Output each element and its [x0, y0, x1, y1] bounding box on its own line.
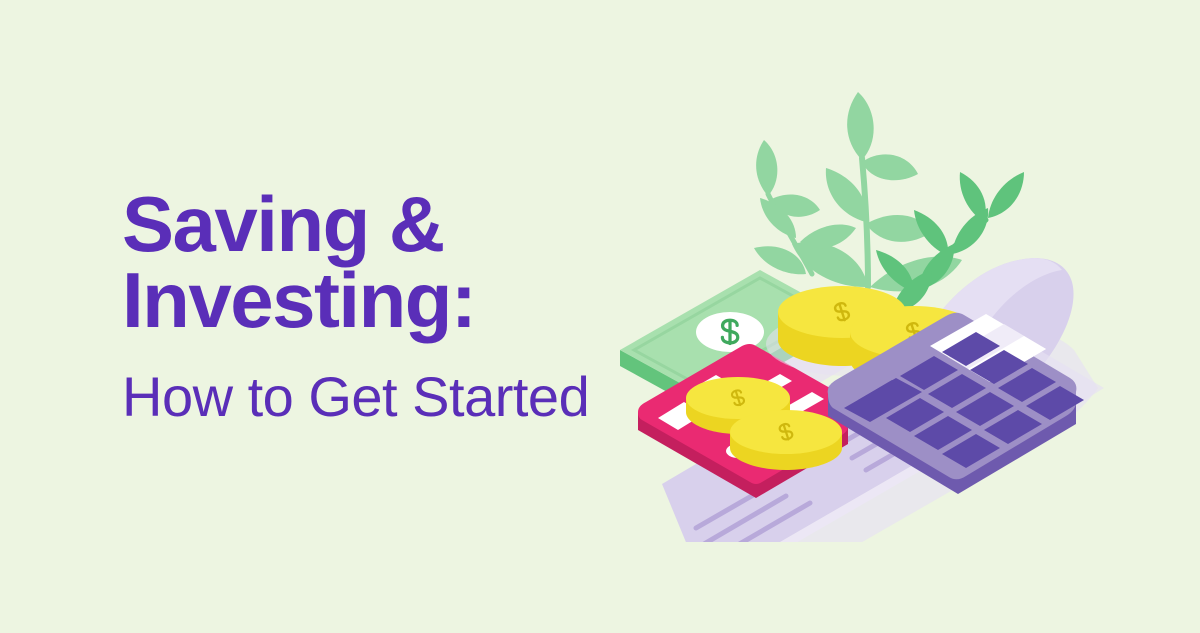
- page-subtitle: How to Get Started: [122, 369, 642, 425]
- page-title-line-1: Saving &: [122, 186, 642, 262]
- text-block: Saving & Investing: How to Get Started: [122, 186, 642, 425]
- banner: Saving & Investing: How to Get Started: [0, 0, 1200, 633]
- page-title-line-2: Investing:: [122, 262, 642, 338]
- page-title: Saving & Investing:: [122, 186, 642, 339]
- illustration: [600, 82, 1120, 542]
- coin-single-bottom: [730, 410, 842, 470]
